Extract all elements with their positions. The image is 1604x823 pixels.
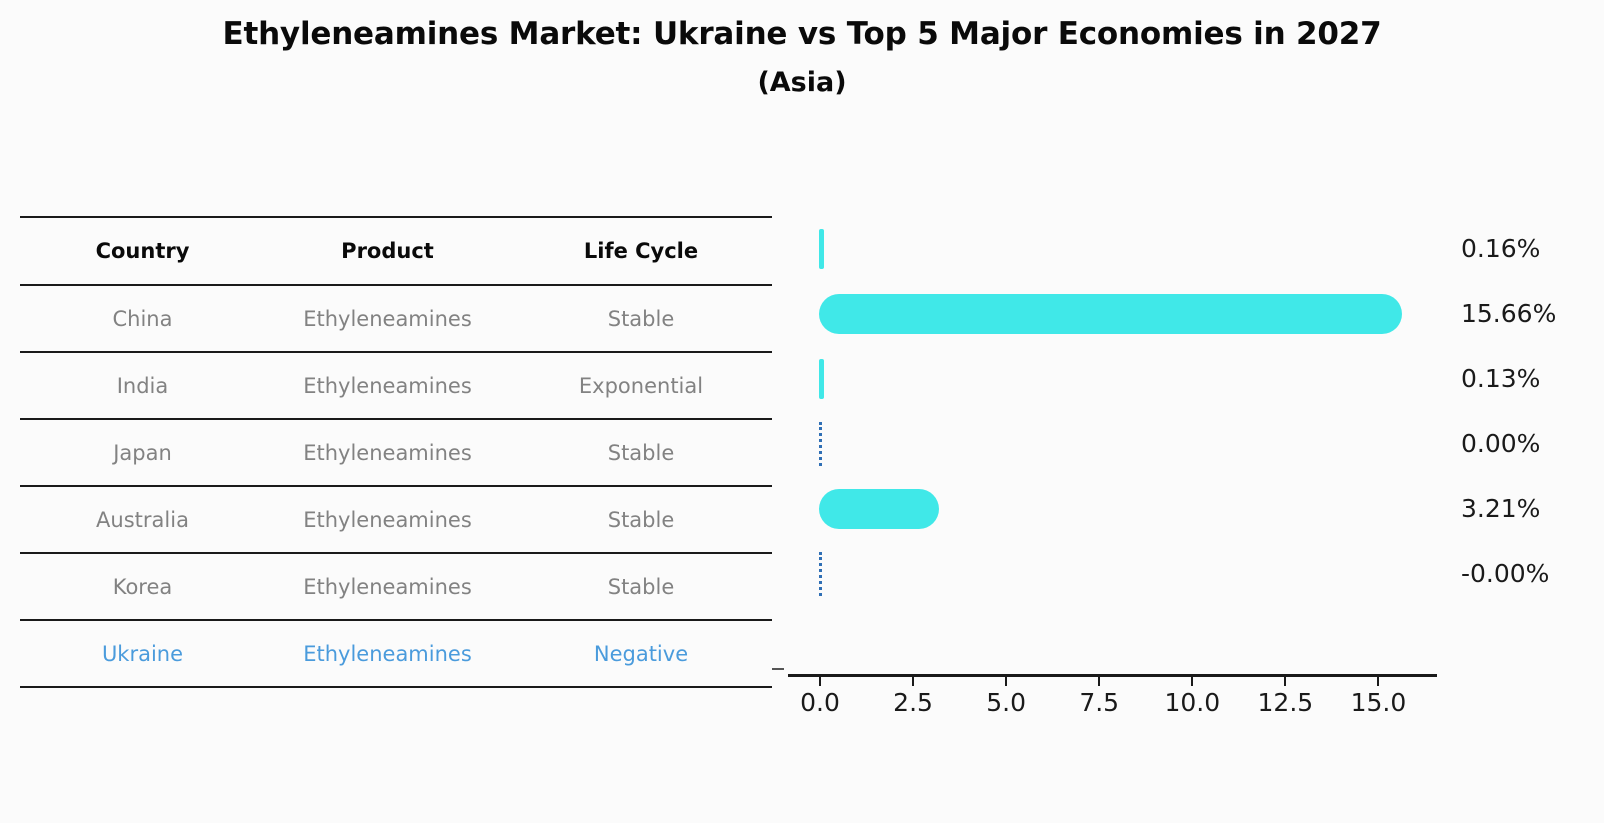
x-axis-tick bbox=[1377, 677, 1379, 686]
bar-row: 3.21% bbox=[788, 476, 1453, 541]
bar-row: 15.66% bbox=[788, 281, 1453, 346]
bar-india bbox=[819, 294, 1402, 334]
cell-country: Australia bbox=[20, 486, 265, 553]
cell-country: Korea bbox=[20, 553, 265, 620]
cell-product: Ethyleneamines bbox=[265, 419, 510, 486]
title-line-primary: Ethyleneamines Market: Ukraine vs Top 5 … bbox=[0, 12, 1604, 56]
bar-row: -0.00% bbox=[788, 541, 1453, 606]
title-line-secondary: (Asia) bbox=[0, 62, 1604, 104]
x-axis-tick bbox=[1098, 677, 1100, 686]
cell-product: Ethyleneamines bbox=[265, 486, 510, 553]
bar-value-label: -0.00% bbox=[1461, 541, 1549, 606]
x-axis-tick-label: 2.5 bbox=[893, 688, 933, 717]
bar-row: 0.13% bbox=[788, 346, 1453, 411]
x-axis-tick bbox=[1191, 677, 1193, 686]
column-header-product: Product bbox=[265, 217, 510, 285]
x-axis-tick bbox=[819, 677, 821, 686]
table-row: AustraliaEthyleneaminesStable bbox=[20, 486, 772, 553]
bar-value-label: 0.16% bbox=[1461, 216, 1540, 281]
cell-product: Ethyleneamines bbox=[265, 285, 510, 352]
cell-life-cycle: Exponential bbox=[510, 352, 772, 419]
x-axis-tick-label: 12.5 bbox=[1258, 688, 1314, 717]
cell-country: Japan bbox=[20, 419, 265, 486]
x-axis-tick-label: 5.0 bbox=[986, 688, 1026, 717]
table-header-row: Country Product Life Cycle bbox=[20, 217, 772, 285]
y-axis-stub-tick bbox=[772, 668, 784, 670]
bar-ukraine bbox=[819, 552, 822, 596]
cell-life-cycle: Stable bbox=[510, 486, 772, 553]
column-header-country: Country bbox=[20, 217, 265, 285]
page-title: Ethyleneamines Market: Ukraine vs Top 5 … bbox=[0, 12, 1604, 104]
x-axis-tick bbox=[912, 677, 914, 686]
bar-korea bbox=[819, 489, 939, 529]
chart-canvas: Ethyleneamines Market: Ukraine vs Top 5 … bbox=[0, 0, 1604, 823]
x-axis-tick-label: 10.0 bbox=[1164, 688, 1220, 717]
table-row: IndiaEthyleneaminesExponential bbox=[20, 352, 772, 419]
cell-country: India bbox=[20, 352, 265, 419]
table-row: ChinaEthyleneaminesStable bbox=[20, 285, 772, 352]
x-axis-tick bbox=[1005, 677, 1007, 686]
bar-value-label: 15.66% bbox=[1461, 281, 1556, 346]
cell-country: Ukraine bbox=[20, 620, 265, 687]
column-header-life-cycle: Life Cycle bbox=[510, 217, 772, 285]
cell-country: China bbox=[20, 285, 265, 352]
x-axis-tick-label: 0.0 bbox=[800, 688, 840, 717]
bar-row: 0.00% bbox=[788, 411, 1453, 476]
bar-china bbox=[819, 229, 824, 269]
cell-product: Ethyleneamines bbox=[265, 553, 510, 620]
cell-life-cycle: Stable bbox=[510, 419, 772, 486]
table-row: JapanEthyleneaminesStable bbox=[20, 419, 772, 486]
plot-area: 0.16%15.66%0.13%0.00%3.21%-0.00% bbox=[788, 216, 1453, 674]
cell-product: Ethyleneamines bbox=[265, 352, 510, 419]
x-axis-tick-label: 15.0 bbox=[1351, 688, 1407, 717]
table-row: UkraineEthyleneaminesNegative bbox=[20, 620, 772, 687]
cell-product: Ethyleneamines bbox=[265, 620, 510, 687]
cell-life-cycle: Stable bbox=[510, 285, 772, 352]
bar-chart: 0.16%15.66%0.13%0.00%3.21%-0.00% 0.02.55… bbox=[772, 216, 1584, 736]
cell-life-cycle: Negative bbox=[510, 620, 772, 687]
bar-value-label: 0.00% bbox=[1461, 411, 1540, 476]
x-axis-tick bbox=[1284, 677, 1286, 686]
x-axis-tick-label: 7.5 bbox=[1079, 688, 1119, 717]
bar-value-label: 3.21% bbox=[1461, 476, 1540, 541]
cell-life-cycle: Stable bbox=[510, 553, 772, 620]
bar-japan bbox=[819, 359, 824, 399]
country-data-table: Country Product Life Cycle ChinaEthylene… bbox=[20, 216, 772, 688]
bar-row: 0.16% bbox=[788, 216, 1453, 281]
bar-australia bbox=[819, 422, 822, 466]
bar-value-label: 0.13% bbox=[1461, 346, 1540, 411]
table-row: KoreaEthyleneaminesStable bbox=[20, 553, 772, 620]
x-axis-spine bbox=[788, 674, 1437, 677]
